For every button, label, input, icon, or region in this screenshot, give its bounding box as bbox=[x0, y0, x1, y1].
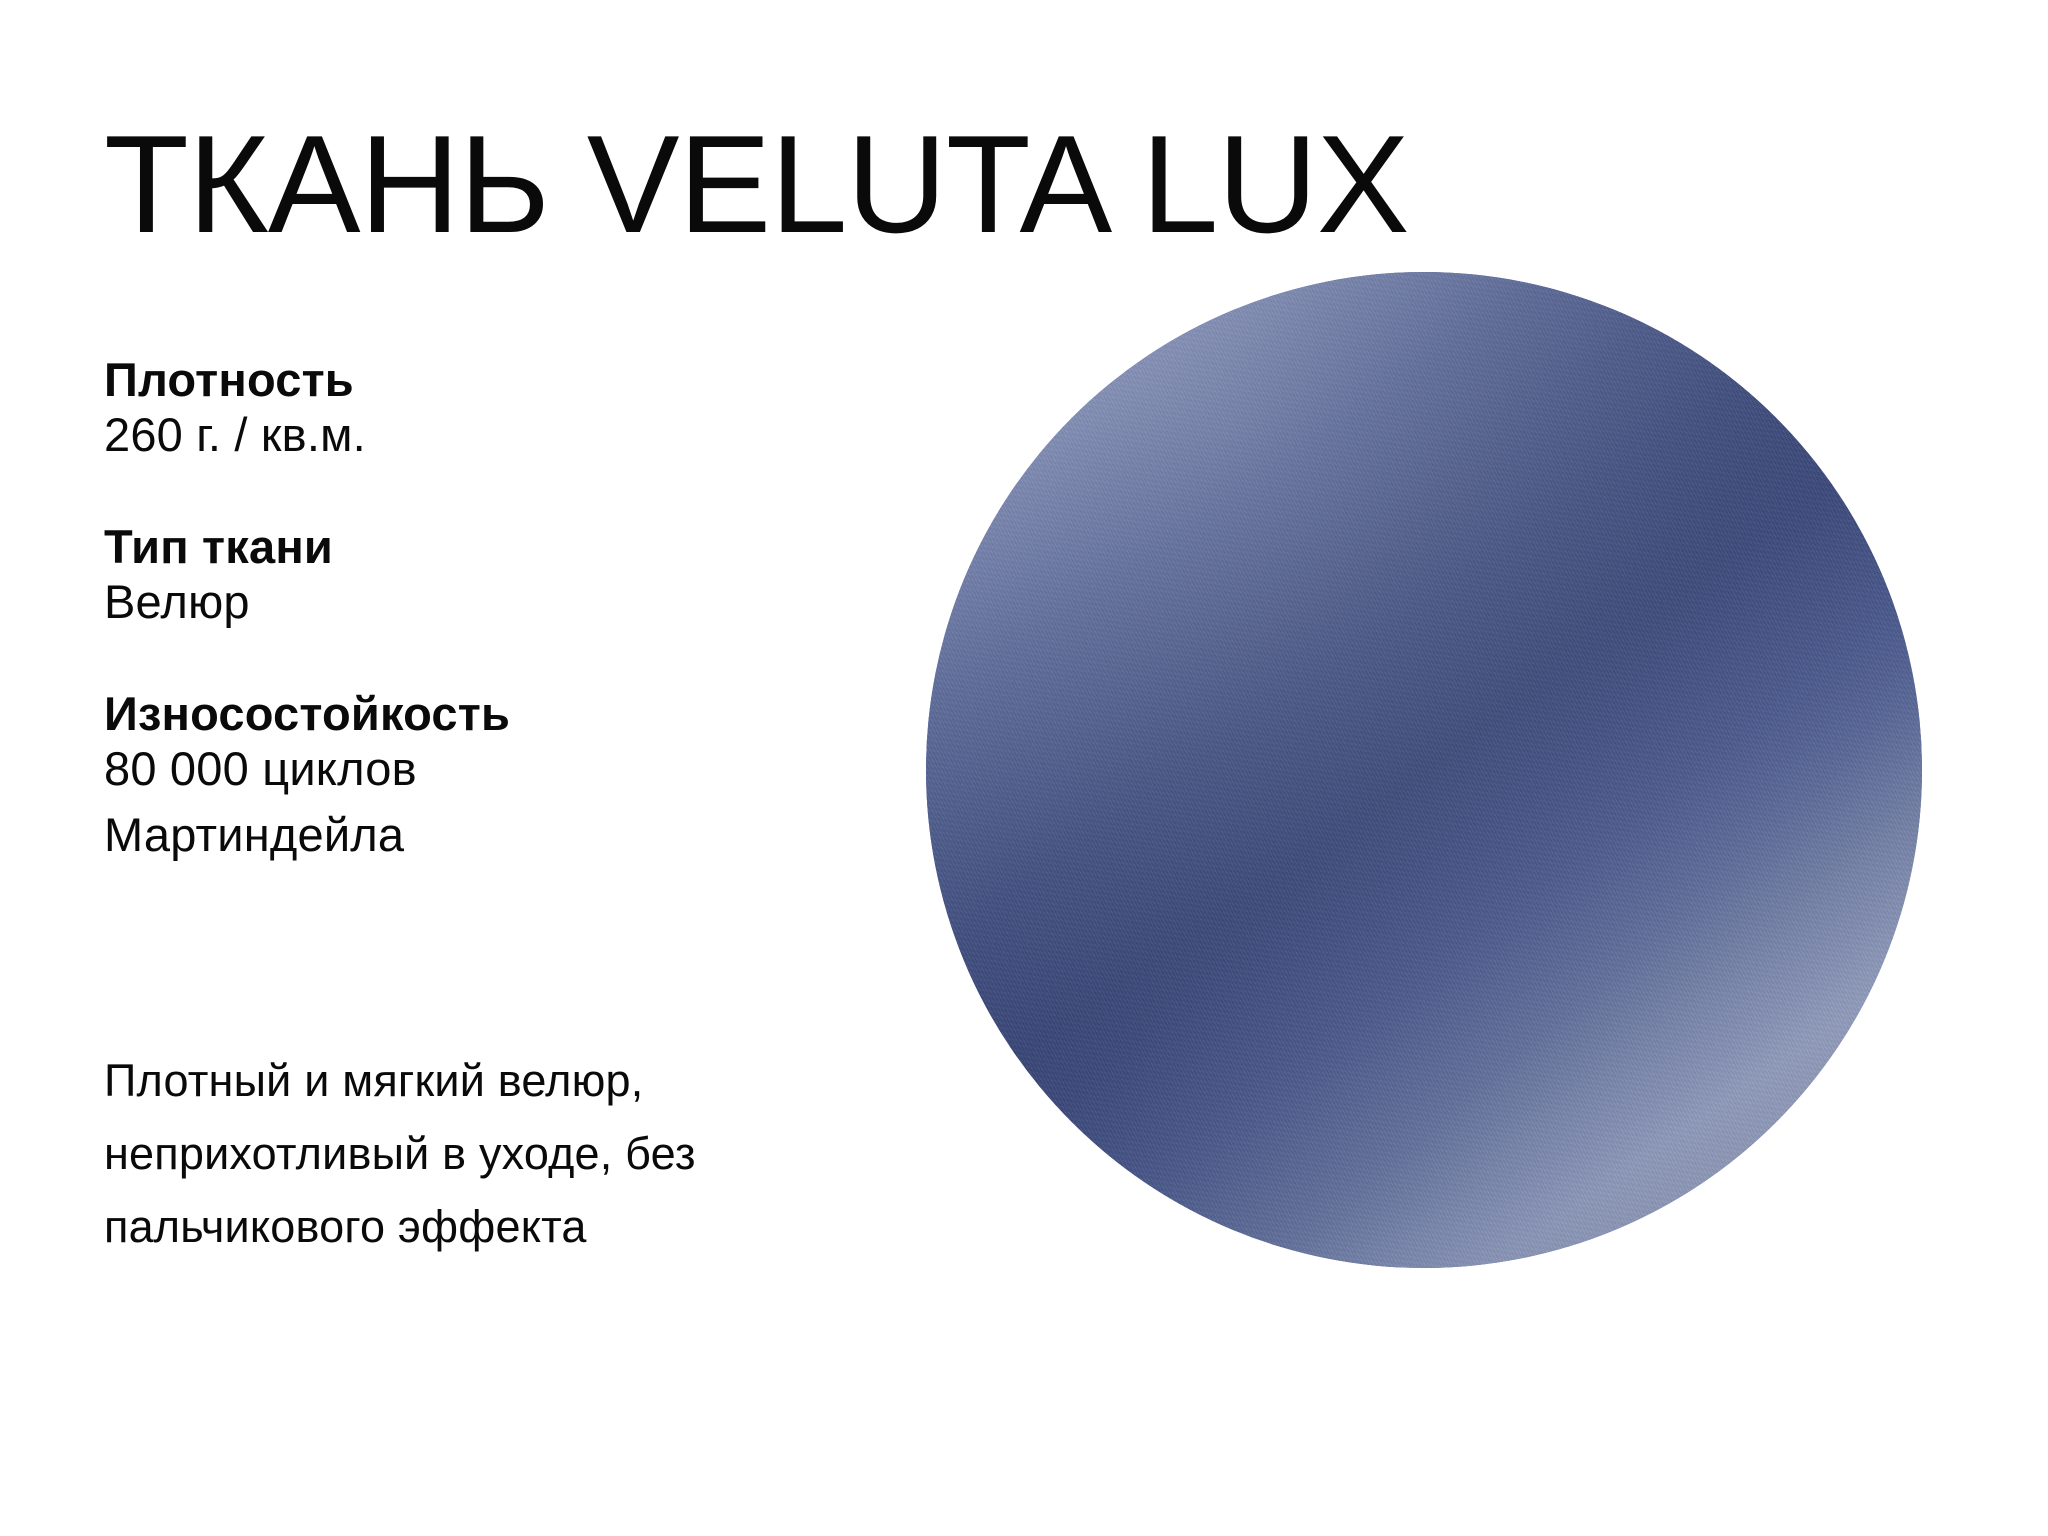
fabric-swatch-circle bbox=[926, 272, 1922, 1268]
swatch-vignette-layer bbox=[926, 272, 1922, 1268]
spec-value: 80 000 циклов bbox=[104, 741, 984, 796]
spec-label: Плотность bbox=[104, 352, 984, 407]
fabric-info-card: ТКАНЬ VELUTA LUX Плотность 260 г. / кв.м… bbox=[0, 0, 2048, 1536]
spec-label: Износостойкость bbox=[104, 686, 984, 741]
spec-value: Велюр bbox=[104, 574, 984, 629]
spec-item-density: Плотность 260 г. / кв.м. bbox=[104, 352, 984, 463]
page-title: ТКАНЬ VELUTA LUX bbox=[104, 115, 1409, 254]
spec-item-durability: Износостойкость 80 000 циклов Мартиндейл… bbox=[104, 686, 984, 873]
spec-value-secondary: Мартиндейла bbox=[104, 797, 984, 873]
specs-list: Плотность 260 г. / кв.м. Тип ткани Велюр… bbox=[104, 352, 984, 873]
spec-item-fabric-type: Тип ткани Велюр bbox=[104, 519, 984, 630]
fabric-description: Плотный и мягкий велюр, неприхотливый в … bbox=[104, 1045, 944, 1264]
spec-value: 260 г. / кв.м. bbox=[104, 407, 984, 462]
spec-label: Тип ткани bbox=[104, 519, 984, 574]
